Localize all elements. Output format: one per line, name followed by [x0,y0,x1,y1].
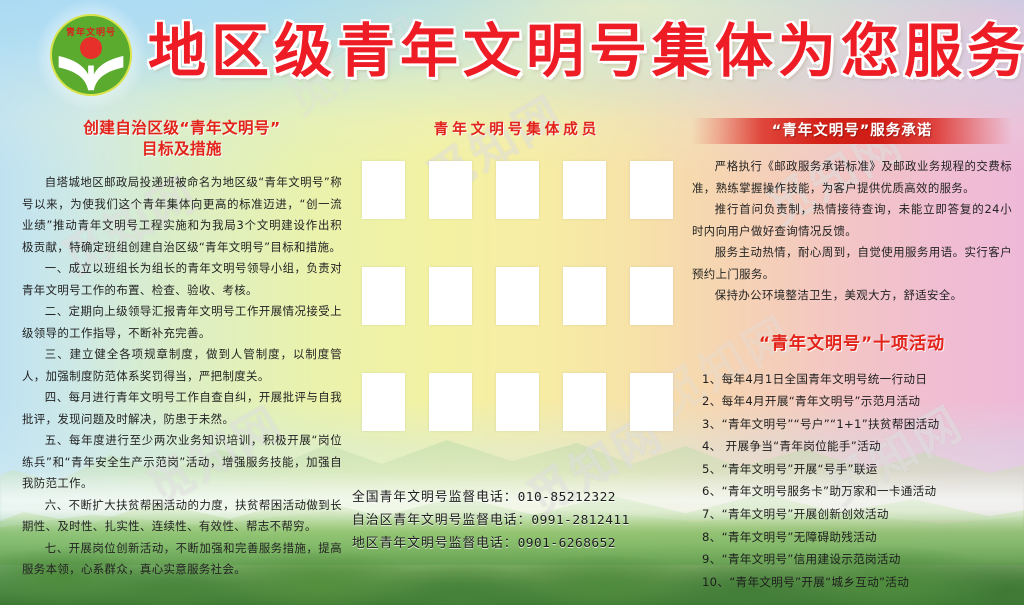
poster-header: 青年文明号 地区级青年文明号集体为您服务 [0,0,1024,108]
paragraph: 保持办公环境整洁卫生，美观大方，舒适安全。 [692,285,1012,307]
paragraph: 四、每月进行青年文明号工作自查自纠，开展批评与自我批评，发现问题及时解决，防患于… [22,387,342,430]
hotline-label: 全国青年文明号监督电话： [352,490,518,505]
paragraph: 严格执行《邮政服务承诺标准》及邮政业务规程的交费标准，熟练掌握操作技能，为客户提… [692,156,1012,199]
member-photo-slot[interactable] [362,267,405,325]
member-photo-slot[interactable] [563,373,606,431]
hotline-number: 0991-2812411 [531,513,629,528]
activity-item: 1、每年4月1日全国青年文明号统一行动日 [702,368,1012,391]
member-photo-slot[interactable] [429,373,472,431]
paragraph: 六、不断扩大扶贫帮困活动的力度，扶贫帮困活动做到长期性、及时性、扎实性、连续性、… [22,495,342,538]
activity-item: 8、“青年文明号”无障碍助残活动 [702,526,1012,549]
paragraph: 自塔城地区邮政局投递班被命名为地区级“青年文明号”称号以来，为使我们这个青年集体… [22,172,342,258]
left-column-title-line2: 目标及措施 [22,139,342,160]
paragraph: 五、每年度进行至少两次业务知识培训，积极开展“岗位练兵”和“青年安全生产示范岗”… [22,430,342,495]
member-photo-slot[interactable] [429,161,472,219]
hotline-label: 地区青年文明号监督电话： [352,536,518,551]
activity-item: 3、“青年文明号”“号户”“1+1”扶贫帮困活动 [702,413,1012,436]
ten-activities-list: 1、每年4月1日全国青年文明号统一行动日 2、每年4月开展“青年文明号”示范月活… [692,368,1012,594]
paragraph: 一、成立以班组长为组长的青年文明号领导小组，负责对青年文明号工作的布置、检查、验… [22,258,342,301]
logo-circle: 青年文明号 [50,14,132,96]
activity-item: 6、“青年文明号服务卡”助万家和一卡通活动 [702,480,1012,503]
member-photo-grid [352,161,682,431]
service-promise-banner: “青年文明号”服务承诺 [692,118,1012,144]
member-photo-slot[interactable] [630,161,673,219]
paragraph: 推行首问负责制，热情接待查询，未能立即答复的24小时内向用户做好查询情况反馈。 [692,199,1012,242]
activity-item: 7、“青年文明号”开展创新创效活动 [702,503,1012,526]
member-photo-slot[interactable] [496,161,539,219]
paragraph: 二、定期向上级领导汇报青年文明号工作开展情况接受上级领导的工作指导，不断补充完善… [22,301,342,344]
logo-inner-text: 青年文明号 [52,25,130,38]
poster-canvas: 觅知网 觅知网 觅知网 觅知网 觅知网 觅知网 觅知网 觅知网 青年文明号 地区 [0,0,1024,605]
hotline-row: 自治区青年文明号监督电话：0991-2812411 [352,509,682,532]
activity-item: 10、“青年文明号”开展“城乡互动”活动 [702,571,1012,594]
paragraph: 服务主动热情，耐心周到，自觉使用服务用语。实行客户预约上门服务。 [692,242,1012,285]
right-column: “青年文明号”服务承诺 严格执行《邮政服务承诺标准》及邮政业务规程的交费标准，熟… [692,118,1012,593]
member-photo-slot[interactable] [630,267,673,325]
hotline-number: 010-85212322 [518,490,616,505]
middle-column-title: 青年文明号集体成员 [352,118,682,139]
youth-civilization-logo: 青年文明号 [50,14,132,96]
activity-item: 4、 开展争当“青年岗位能手”活动 [702,435,1012,458]
activity-item: 2、每年4月开展“青年文明号”示范月活动 [702,390,1012,413]
paragraph: 七、开展岗位创新活动，不断加强和完善服务措施，提高服务本领，心系群众，真心实意服… [22,538,342,581]
left-column: 创建自治区级“青年文明号” 目标及措施 自塔城地区邮政局投递班被命名为地区级“青… [22,118,342,581]
left-column-title-line1: 创建自治区级“青年文明号” [83,119,280,137]
ten-activities-title: “青年文明号”十项活动 [692,329,1012,354]
member-photo-slot[interactable] [362,373,405,431]
middle-column: 青年文明号集体成员 全国青年文明号监督电话：010-85212322 [352,118,682,555]
member-photo-slot[interactable] [563,161,606,219]
member-photo-slot[interactable] [362,161,405,219]
left-column-body: 自塔城地区邮政局投递班被命名为地区级“青年文明号”称号以来，为使我们这个青年集体… [22,172,342,581]
activity-item: 9、“青年文明号”信用建设示范岗活动 [702,548,1012,571]
page-title: 地区级青年文明号集体为您服务 [148,16,1024,86]
service-promise-body: 严格执行《邮政服务承诺标准》及邮政业务规程的交费标准，熟练掌握操作技能，为客户提… [692,156,1012,307]
hotline-number: 0901-6268652 [518,536,616,551]
paragraph: 三、建立健全各项规章制度，做到人管制度，以制度管人，加强制度防范体系奖罚得当，严… [22,344,342,387]
logo-sun-icon [80,37,102,59]
member-photo-slot[interactable] [563,267,606,325]
supervision-hotlines: 全国青年文明号监督电话：010-85212322 自治区青年文明号监督电话：09… [352,486,682,555]
member-photo-slot[interactable] [429,267,472,325]
member-photo-slot[interactable] [496,373,539,431]
hotline-label: 自治区青年文明号监督电话： [352,513,531,528]
left-column-title: 创建自治区级“青年文明号” 目标及措施 [22,118,342,160]
hotline-row: 地区青年文明号监督电话：0901-6268652 [352,532,682,555]
member-photo-slot[interactable] [630,373,673,431]
activity-item: 5、“青年文明号”开展“号手”联运 [702,458,1012,481]
member-photo-slot[interactable] [496,267,539,325]
hotline-row: 全国青年文明号监督电话：010-85212322 [352,486,682,509]
